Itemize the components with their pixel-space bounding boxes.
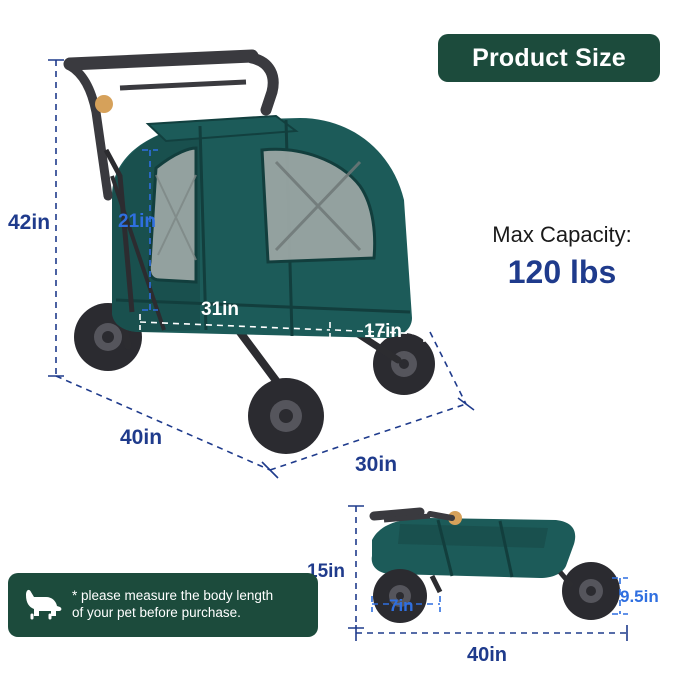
dog-icon (20, 585, 64, 626)
handlebar (70, 56, 273, 196)
dim-cabin-height: 21in (118, 211, 156, 233)
measure-note-line1: * please measure the body length (72, 588, 273, 603)
mesh-window-side (149, 148, 196, 282)
stroller-body (112, 116, 412, 338)
dim-overall-width: 30in (355, 453, 397, 477)
wheel-rear-left (74, 303, 142, 371)
dim-cabin-length: 31in (201, 299, 239, 321)
dim-height: 42in (8, 211, 50, 235)
mesh-window-front (262, 149, 375, 262)
dim-folded-wheel-gap: 7in (389, 596, 414, 616)
max-capacity-label: Max Capacity: (462, 222, 662, 248)
folded-wheel-right (562, 562, 620, 620)
product-size-label: Product Size (472, 44, 626, 73)
measure-note-text: * please measure the body length of your… (72, 588, 273, 622)
measure-note-line2: of your pet before purchase. (72, 605, 241, 620)
dim-overall-length: 40in (120, 426, 162, 450)
measure-note: * please measure the body length of your… (8, 573, 318, 637)
product-size-infographic: Product Size Max Capacity: 120 lbs 42in … (0, 0, 679, 679)
dim-folded-length: 40in (467, 644, 507, 667)
max-capacity-value: 120 lbs (462, 254, 662, 291)
max-capacity-block: Max Capacity: 120 lbs (462, 222, 662, 291)
dim-rear-length: 17in (364, 321, 402, 343)
product-size-badge: Product Size (438, 34, 660, 82)
dim-folded-wheel-size: 9.5in (620, 587, 659, 607)
wheel-front-caster (248, 378, 324, 454)
